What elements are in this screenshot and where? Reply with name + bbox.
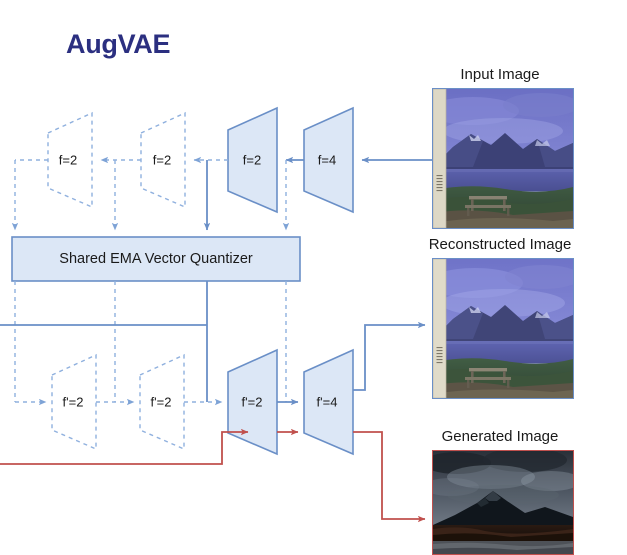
reconstructed-image-caption: Reconstructed Image <box>429 236 572 253</box>
encoder-node-1-shape <box>48 113 92 207</box>
generated-image-content <box>433 451 573 554</box>
page-title: AugVAE <box>66 29 170 60</box>
input-image <box>432 88 574 229</box>
decoder-node-2-shape <box>140 355 184 449</box>
input-image-content <box>433 89 573 228</box>
encoder-node-3-shape <box>228 108 277 212</box>
encoder-node-4-shape <box>304 108 353 212</box>
red-rail-bottom-left <box>0 432 248 464</box>
decoder-node-1-shape <box>52 355 96 449</box>
generated-image-caption: Generated Image <box>442 428 559 445</box>
arrow-decoder-to-reconstructed <box>353 325 425 390</box>
input-image-caption: Input Image <box>460 66 539 83</box>
decoder-node-4-shape <box>304 350 353 454</box>
decoder-node-3-shape <box>228 350 277 454</box>
diagram-canvas: AugVAE Shared EMA Vector Quantizer f=2 f… <box>0 0 627 553</box>
generated-image <box>432 450 574 555</box>
encoder-node-2-shape <box>141 113 185 207</box>
reconstructed-image-content <box>433 259 573 398</box>
reconstructed-image <box>432 258 574 399</box>
red-arrow-decoder-to-generated <box>353 432 425 519</box>
shared-quantizer-label: Shared EMA Vector Quantizer <box>59 251 252 267</box>
